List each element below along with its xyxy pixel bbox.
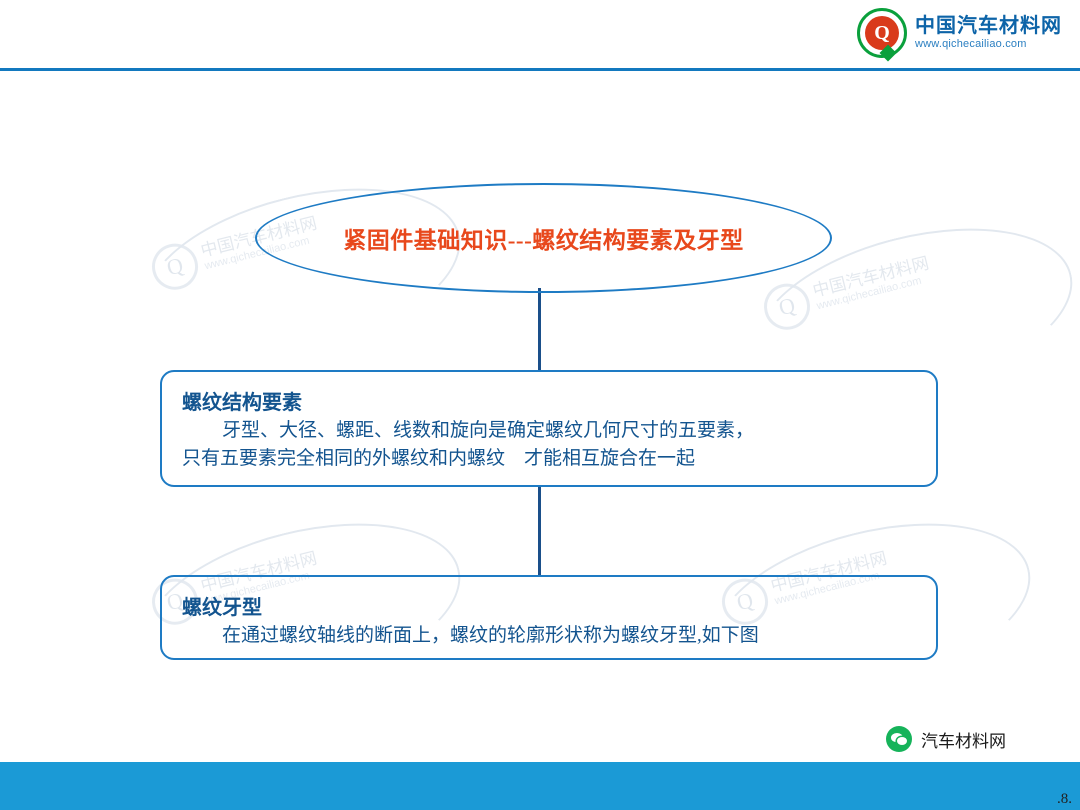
node-thread-profile: 螺纹牙型 在通过螺纹轴线的断面上，螺纹的轮廓形状称为螺纹牙型,如下图 (160, 575, 938, 660)
logo-name-en: www.qichecailiao.com (915, 38, 1062, 51)
logo-mark-icon: Q (857, 8, 907, 58)
node-body-line-2: 只有五要素完全相同的外螺纹和内螺纹 才能相互旋合在一起 (182, 448, 695, 469)
site-logo: Q 中国汽车材料网 www.qichecailiao.com (857, 8, 1062, 58)
diagram-title-text: 紧固件基础知识---螺纹结构要素及牙型 (343, 221, 743, 255)
node-body-line-1: 在通过螺纹轴线的断面上，螺纹的轮廓形状称为螺纹牙型,如下图 (182, 622, 916, 650)
footer-bar (0, 762, 1080, 810)
node-body: 在通过螺纹轴线的断面上，螺纹的轮廓形状称为螺纹牙型,如下图 (182, 622, 916, 650)
footer-wechat-label: 汽车材料网 (921, 727, 1006, 752)
footer-wechat-brand: 汽车材料网 (886, 726, 1006, 752)
connector-structure-to-profile (538, 487, 541, 577)
slide: Q 中国汽车材料网 www.qichecailiao.com Q 中国汽车材料网… (0, 0, 1080, 810)
watermark-name-en: www.qichecailiao.com (815, 275, 922, 313)
watermark-name-cn: 中国汽车材料网 (810, 249, 932, 302)
logo-letter: Q (865, 16, 899, 50)
header-divider (0, 68, 1080, 71)
node-heading: 螺纹结构要素 (182, 386, 916, 415)
watermark-ring-icon: Q (147, 239, 203, 295)
logo-name-cn: 中国汽车材料网 (915, 15, 1062, 38)
watermark-ring-icon: Q (759, 279, 815, 335)
diagram-title-node: 紧固件基础知识---螺纹结构要素及牙型 (255, 183, 832, 293)
node-body: 牙型、大径、螺距、线数和旋向是确定螺纹几何尺寸的五要素， 只有五要素完全相同的外… (182, 417, 916, 472)
node-heading: 螺纹牙型 (182, 591, 916, 620)
page-number: .8. (1057, 791, 1072, 808)
node-thread-structure-elements: 螺纹结构要素 牙型、大径、螺距、线数和旋向是确定螺纹几何尺寸的五要素， 只有五要… (160, 370, 938, 487)
wechat-icon (886, 726, 912, 752)
node-body-line-1: 牙型、大径、螺距、线数和旋向是确定螺纹几何尺寸的五要素， (182, 417, 916, 445)
connector-title-to-structure (538, 288, 541, 372)
logo-text: 中国汽车材料网 www.qichecailiao.com (915, 15, 1062, 51)
